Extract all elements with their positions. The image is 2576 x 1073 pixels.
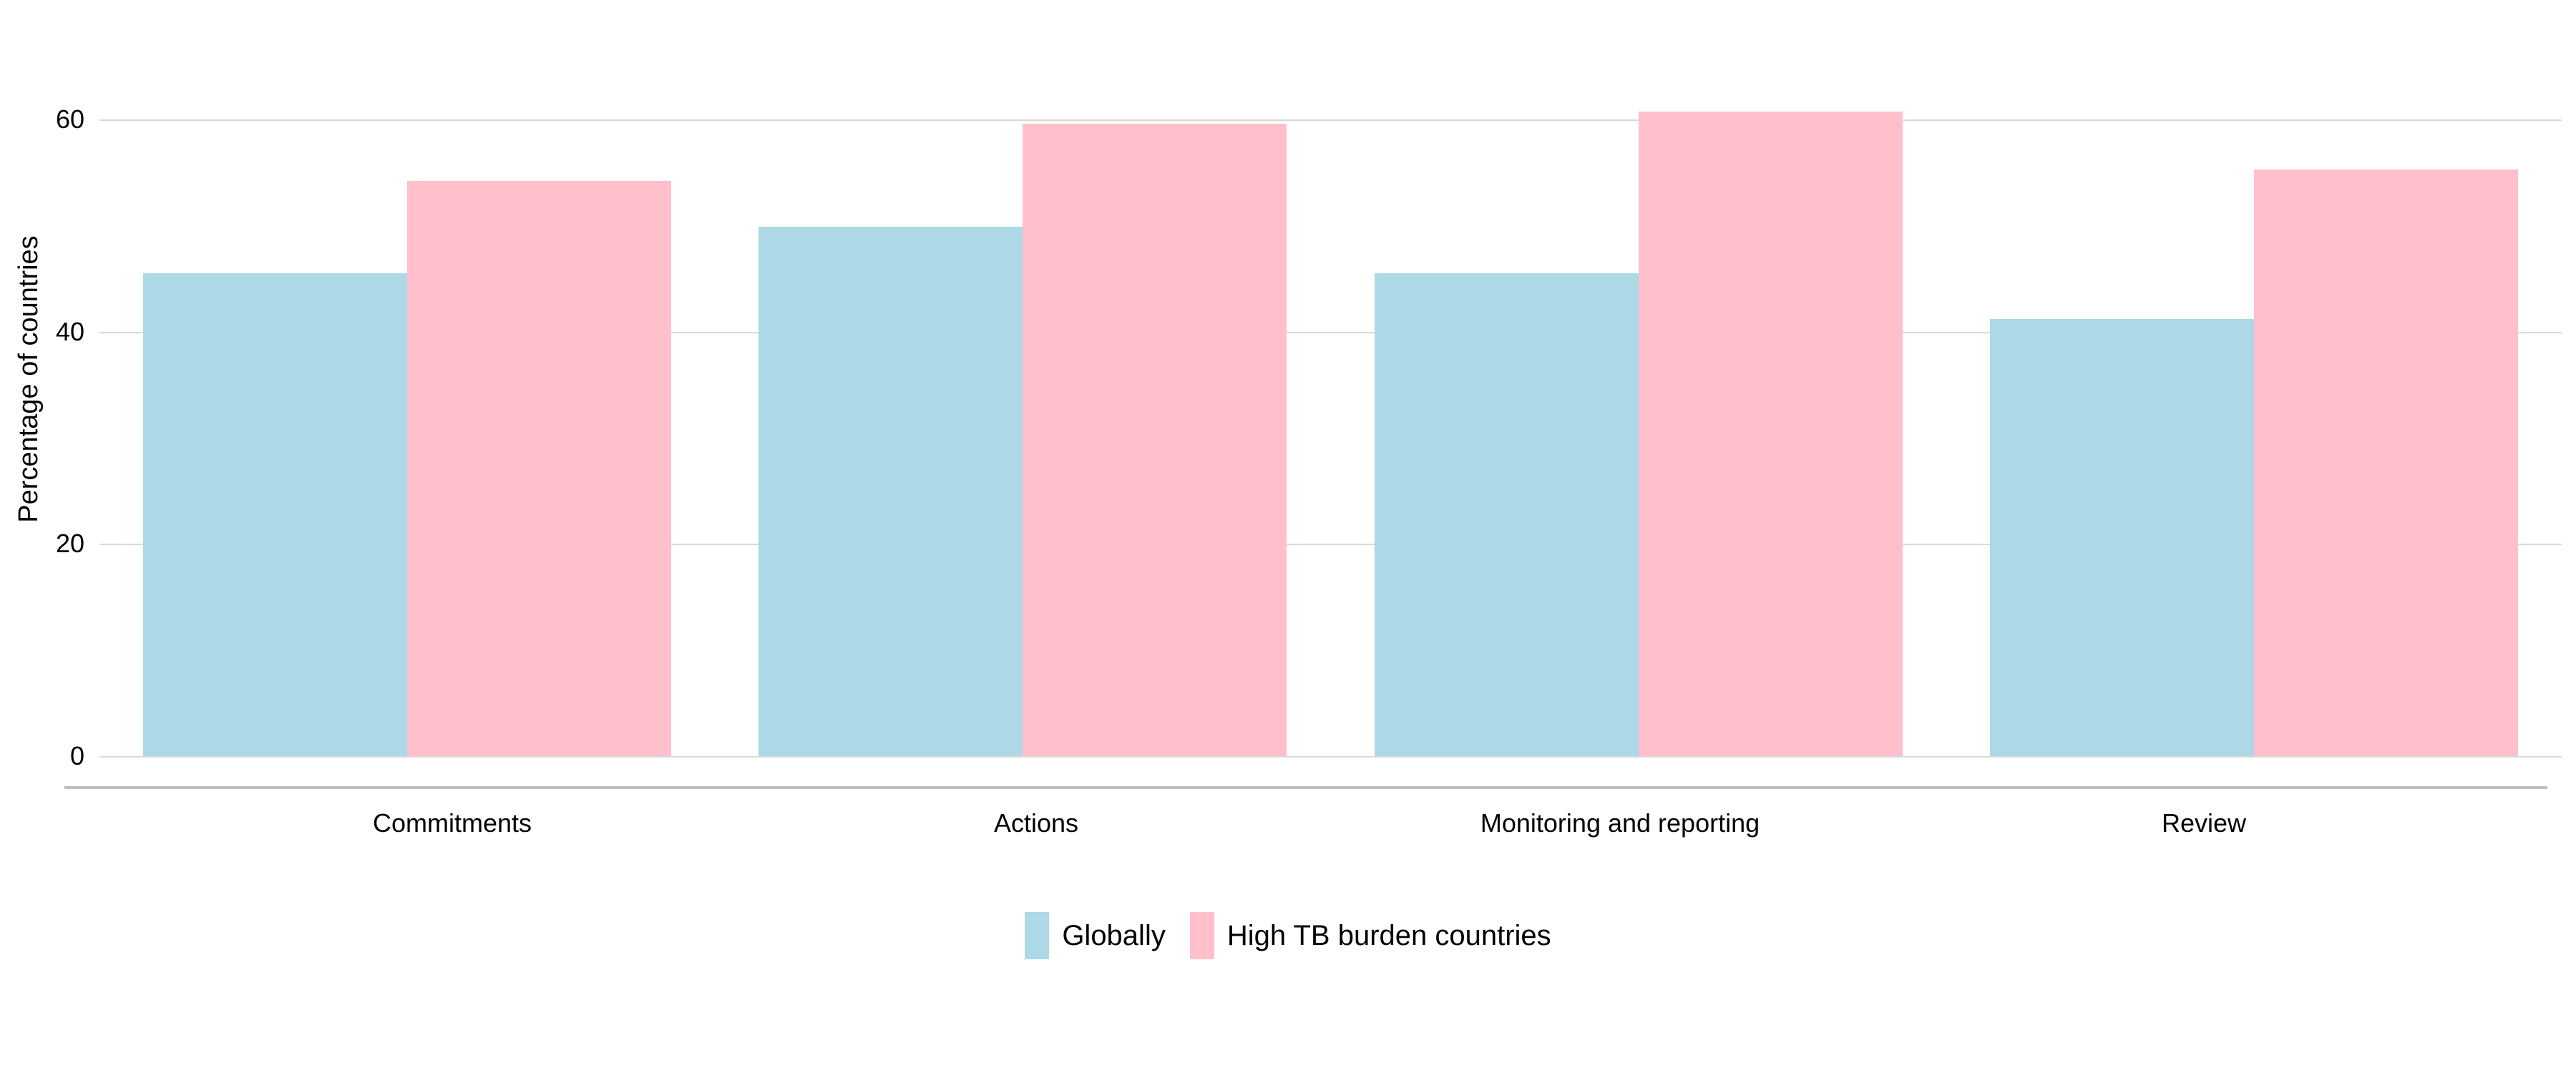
y-tick-label-60: 60 xyxy=(20,107,84,132)
bar-monitoring-and-reporting-globally xyxy=(1375,273,1639,756)
x-tick-label-review: Review xyxy=(2162,808,2246,838)
legend-label-high-tb-burden-countries: High TB burden countries xyxy=(1227,920,1551,952)
bar-actions-globally xyxy=(758,227,1023,756)
legend-item-high-tb-burden-countries[interactable]: High TB burden countries xyxy=(1190,912,1551,959)
legend-swatch-high-tb-burden-countries-icon xyxy=(1190,912,1214,959)
bar-chart-figure: Percentage of countries 60 40 20 0 Commi… xyxy=(0,0,2576,1073)
y-tick-label-40: 40 xyxy=(20,319,84,345)
gridline-0 xyxy=(99,756,2562,758)
plot-area xyxy=(99,43,2562,756)
legend-label-globally: Globally xyxy=(1062,920,1166,952)
chart-legend: Globally High TB burden countries xyxy=(0,912,2576,959)
bar-actions-high-tb-burden-countries xyxy=(1023,124,1287,756)
bar-review-globally xyxy=(1990,319,2254,756)
legend-swatch-globally-icon xyxy=(1025,912,1049,959)
legend-item-globally[interactable]: Globally xyxy=(1025,912,1166,959)
bar-commitments-globally xyxy=(143,273,407,756)
bar-review-high-tb-burden-countries xyxy=(2254,170,2518,756)
bar-commitments-high-tb-burden-countries xyxy=(407,181,671,756)
x-axis-line xyxy=(64,786,2547,789)
x-tick-label-actions: Actions xyxy=(994,808,1078,838)
y-tick-label-20: 20 xyxy=(20,531,84,557)
x-tick-label-commitments: Commitments xyxy=(373,808,532,838)
bar-monitoring-and-reporting-high-tb-burden-countries xyxy=(1639,112,1903,756)
x-tick-label-monitoring-and-reporting: Monitoring and reporting xyxy=(1480,808,1760,838)
y-tick-label-0: 0 xyxy=(20,743,84,769)
